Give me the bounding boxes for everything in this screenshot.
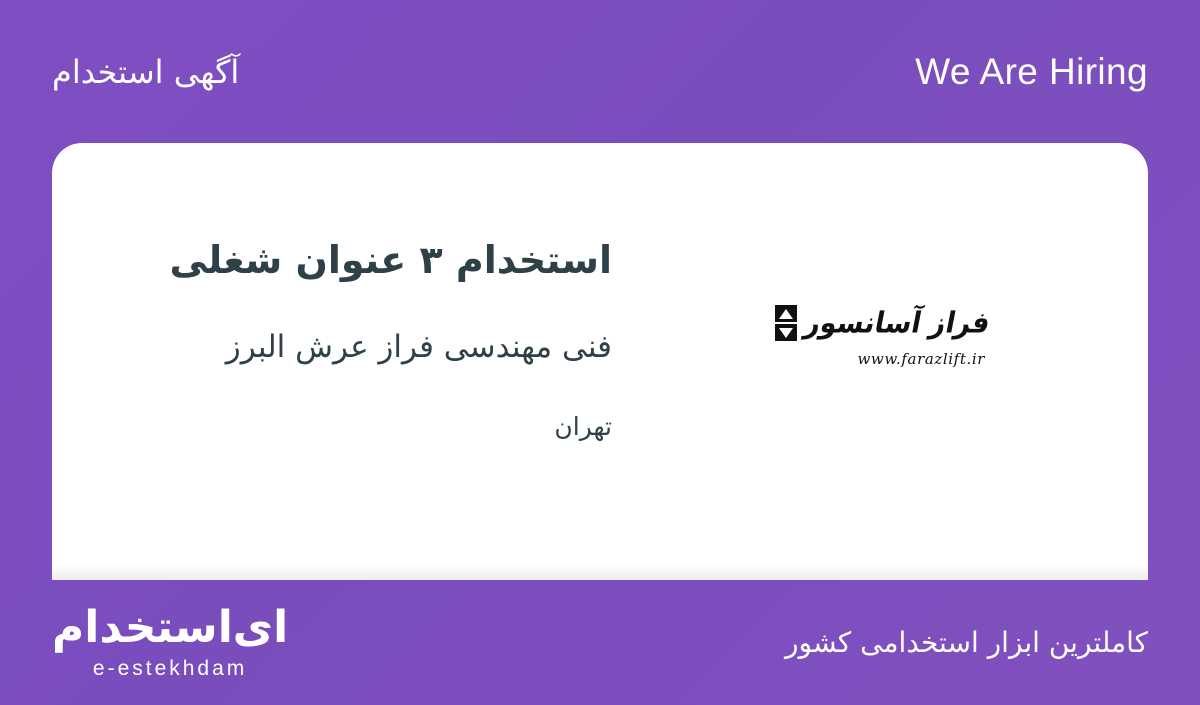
poster-header: We Are Hiring آگهی استخدام — [0, 0, 1200, 143]
logo-block: فراز آسانسور www.farazlift.ir — [775, 305, 985, 368]
header-english-title: We Are Hiring — [915, 53, 1148, 90]
job-advertisement-poster: We Are Hiring آگهی استخدام استخدام ۳ عنو… — [0, 0, 1200, 705]
brand-latin-name: e-estekhdam — [93, 658, 247, 679]
logo-wordmark: فراز آسانسور — [802, 308, 992, 337]
job-card: استخدام ۳ عنوان شغلی فنی مهندسی فراز عرش… — [52, 143, 1148, 580]
job-title: استخدام ۳ عنوان شغلی — [100, 237, 612, 285]
triangle-down-icon — [775, 324, 797, 341]
company-logo: فراز آسانسور www.farazlift.ir — [612, 143, 1148, 368]
poster-footer: کاملترین ابزار استخدامی کشور ای‌استخدام … — [0, 580, 1200, 705]
triangle-up-icon — [775, 305, 797, 322]
company-website: www.farazlift.ir — [857, 350, 985, 368]
elevator-arrows-icon — [775, 305, 797, 341]
company-name: فنی مهندسی فراز عرش البرز — [100, 327, 612, 367]
brand-persian-name: ای‌استخدام — [52, 606, 288, 650]
footer-tagline: کاملترین ابزار استخدامی کشور — [785, 629, 1148, 657]
brand-logo: ای‌استخدام e-estekhdam — [52, 606, 288, 679]
logo-mark-row: فراز آسانسور — [775, 305, 985, 341]
header-persian-title: آگهی استخدام — [52, 56, 239, 88]
job-details: استخدام ۳ عنوان شغلی فنی مهندسی فراز عرش… — [52, 143, 612, 443]
job-location: تهران — [100, 411, 612, 444]
